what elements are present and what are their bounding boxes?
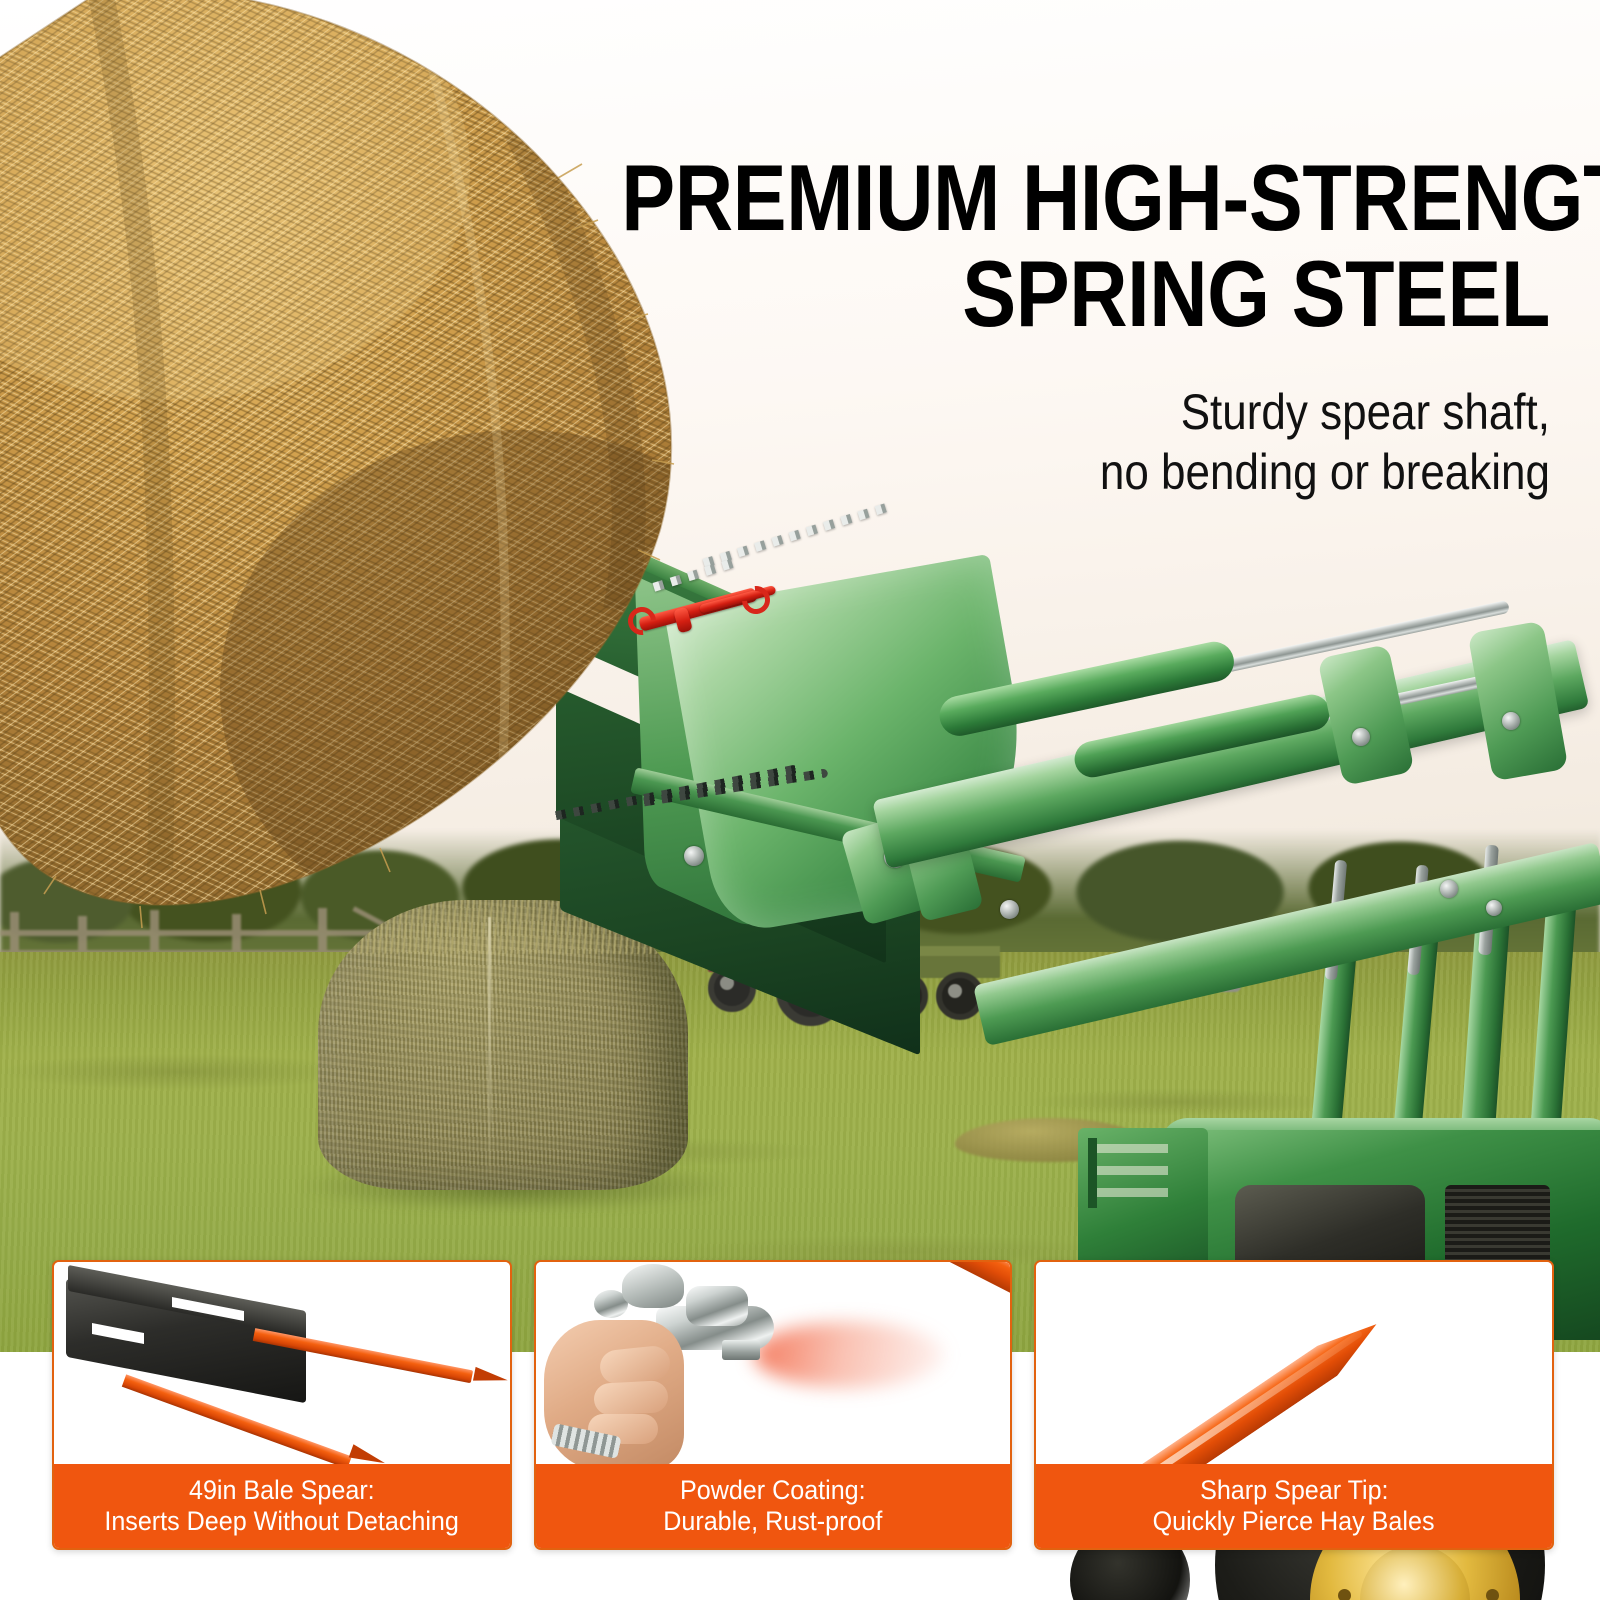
spear-tip-caption: Sharp Spear Tip: Quickly Pierce Hay Bale… — [1036, 1464, 1552, 1548]
lifted-round-hay-bale — [0, 0, 720, 940]
loader-pivot-pin-3 — [1000, 900, 1019, 919]
feature-panel-powder-coating[interactable]: Powder Coating: Durable, Rust-proof — [534, 1260, 1012, 1550]
spear-shaft-being-coated — [794, 1262, 1010, 1296]
powder-coating-caption: Powder Coating: Durable, Rust-proof — [536, 1464, 1010, 1548]
loader-arm-pin-mid — [1352, 728, 1370, 746]
powder-coating-image — [536, 1262, 1010, 1464]
loader-arm-pin-mast2 — [1486, 900, 1502, 916]
product-marketing-image: PREMIUM HIGH-STRENGTH SPRING STEEL Sturd… — [0, 0, 1600, 1600]
feature-panel-spear-tip[interactable]: Sharp Spear Tip: Quickly Pierce Hay Bale… — [1034, 1260, 1554, 1550]
subheadline: Sturdy spear shaft, no bending or breaki… — [700, 382, 1550, 502]
bale-spear-caption-line-2: Inserts Deep Without Detaching — [105, 1506, 460, 1537]
powder-coating-caption-line-1: Powder Coating: — [680, 1475, 866, 1506]
spear-tip-image — [1036, 1262, 1552, 1464]
spray-gun-nozzle — [722, 1340, 760, 1360]
spray-gun-paint-cup — [622, 1264, 684, 1308]
feature-panel-bale-spear[interactable]: 49in Bale Spear: Inserts Deep Without De… — [52, 1260, 512, 1550]
bale-spear-tip-lower — [349, 1444, 388, 1464]
powder-coating-caption-line-2: Durable, Rust-proof — [663, 1506, 882, 1537]
headline-line-1: PREMIUM HIGH-STRENGTH — [621, 150, 1550, 246]
middle-finger — [593, 1380, 669, 1416]
feature-panel-row: 49in Bale Spear: Inserts Deep Without De… — [0, 1250, 1600, 1550]
spear-tip-caption-line-2: Quickly Pierce Hay Bales — [1153, 1506, 1435, 1537]
headline-line-2: SPRING STEEL — [621, 246, 1550, 342]
bale-spear-caption-line-1: 49in Bale Spear: — [189, 1475, 375, 1506]
headline: PREMIUM HIGH-STRENGTH SPRING STEEL — [470, 150, 1550, 342]
orange-spray-mist — [754, 1322, 944, 1388]
loader-arm-pin-top — [1502, 712, 1520, 730]
bale-spear-tip-upper — [473, 1367, 509, 1387]
spear-tip-caption-line-1: Sharp Spear Tip: — [1200, 1475, 1388, 1506]
bale-spear-product-image — [54, 1262, 510, 1464]
loader-arm-pin-mast — [1440, 880, 1458, 898]
bale-spear-caption: 49in Bale Spear: Inserts Deep Without De… — [54, 1464, 510, 1548]
subheadline-line-1: Sturdy spear shaft, — [802, 382, 1550, 442]
spray-gun-head — [686, 1286, 748, 1326]
subheadline-line-2: no bending or breaking — [802, 442, 1550, 502]
